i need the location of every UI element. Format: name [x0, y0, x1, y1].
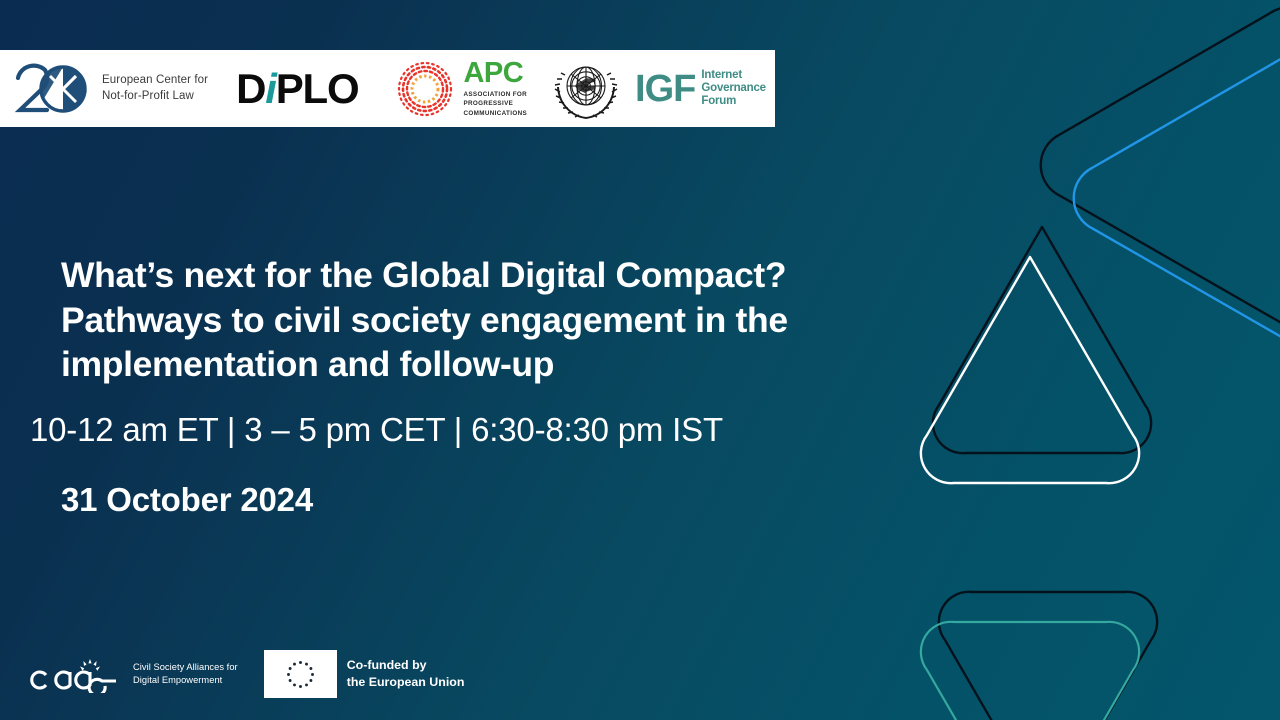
cade-tagline-2: Digital Empowerment — [133, 674, 238, 687]
apc-sub-3: COMMUNICATIONS — [463, 109, 527, 118]
united-nations-emblem-icon — [549, 56, 623, 122]
ecnl-line-1: European Center for — [102, 73, 208, 88]
event-times: 10-12 am ET | 3 – 5 pm CET | 6:30-8:30 p… — [30, 411, 723, 449]
event-headline: What’s next for the Global Digital Compa… — [61, 253, 921, 387]
diplo-plo: PLO — [276, 65, 359, 112]
footer-logos: Civil Society Alliances for Digital Empo… — [28, 650, 464, 698]
ecnl-line-2: Not-for-Profit Law — [102, 89, 208, 104]
apc-acronym: APC — [463, 59, 527, 88]
logo-united-nations — [549, 50, 623, 127]
apc-subtitle: ASSOCIATION FOR PROGRESSIVE COMMUNICATIO… — [463, 90, 527, 118]
cade-tagline-1: Civil Society Alliances for — [133, 661, 238, 674]
triangle-outline-teal-bottom — [921, 622, 1139, 720]
triangle-outline-white-middle — [921, 257, 1139, 483]
diplo-d: D — [236, 65, 265, 112]
igf-sub-2: Governance — [701, 82, 765, 95]
cade-starburst-icon — [80, 659, 100, 671]
triangle-outline-black-top — [1028, 0, 1280, 425]
apc-sub-1: ASSOCIATION FOR — [463, 90, 527, 99]
apc-sunburst-icon — [394, 58, 456, 120]
partner-logo-bar: YEARS European Center for Not-for-Profit… — [0, 50, 775, 127]
eu-line-2: the European Union — [347, 674, 465, 691]
diplo-i: i — [265, 65, 275, 112]
triangle-outline-blue-top — [1061, 28, 1280, 459]
eu-funding-text: Co-funded by the European Union — [347, 657, 465, 690]
european-union-flag-icon — [264, 650, 337, 698]
logo-ecnl: YEARS European Center for Not-for-Profit… — [0, 50, 208, 127]
apc-sub-2: PROGRESSIVE — [463, 99, 527, 108]
headline-line-3: implementation and follow-up — [61, 342, 921, 387]
logo-european-union: Co-funded by the European Union — [264, 650, 465, 698]
ecnl-wordmark: European Center for Not-for-Profit Law — [102, 73, 208, 103]
igf-sub-3: Forum — [701, 95, 765, 108]
igf-acronym: IGF — [635, 70, 695, 108]
cade-wordmark-icon — [28, 655, 124, 693]
cade-tagline: Civil Society Alliances for Digital Empo… — [133, 661, 238, 686]
logo-cade: Civil Society Alliances for Digital Empo… — [28, 655, 238, 693]
headline-line-1: What’s next for the Global Digital Compa… — [61, 253, 921, 298]
eu-line-1: Co-funded by — [347, 657, 465, 674]
triangle-outline-black-middle — [933, 227, 1151, 453]
igf-sub-1: Internet — [701, 69, 765, 82]
logo-igf: IGF Internet Governance Forum — [635, 50, 766, 127]
triangle-outline-black-bottom — [939, 592, 1157, 720]
event-promo-slide: YEARS European Center for Not-for-Profit… — [0, 0, 1280, 720]
apc-wordmark: APC ASSOCIATION FOR PROGRESSIVE COMMUNIC… — [463, 59, 527, 118]
igf-subtitle: Internet Governance Forum — [701, 69, 765, 108]
headline-line-2: Pathways to civil society engagement in … — [61, 298, 921, 343]
logo-diplo: DiPLO — [236, 50, 358, 127]
logo-apc: APC ASSOCIATION FOR PROGRESSIVE COMMUNIC… — [394, 50, 527, 127]
event-date: 31 October 2024 — [61, 481, 313, 519]
ecnl-20-years-icon: YEARS — [10, 58, 94, 120]
diplo-wordmark: DiPLO — [236, 68, 358, 110]
